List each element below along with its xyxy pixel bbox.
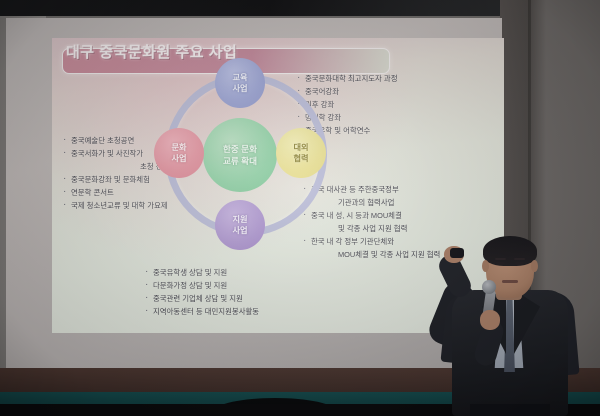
- diagram-node-education: 교육 사업: [215, 58, 265, 108]
- presenter-ear-left: [482, 260, 489, 272]
- presenter-lower-shadow: [470, 404, 550, 416]
- list-cooperation: 중국 대사관 등 주한중국정부 기관과의 협력사업 중국 내 성, 시 등과 M…: [302, 183, 440, 261]
- diagram-node-support: 지원 사업: [215, 200, 265, 250]
- list-item-cont: 및 각종 사업 지원 협력: [302, 222, 440, 235]
- presenter-hair: [483, 236, 537, 266]
- list-item: 중국관련 기업체 상담 및 지원: [144, 292, 259, 305]
- list-item: 중국문화대학 최고지도자 과정: [296, 72, 398, 85]
- presenter-eyebrow-left: [495, 258, 506, 260]
- presenter-eyebrow-right: [514, 258, 525, 260]
- presenter-eye-right: [515, 262, 524, 265]
- list-item-cont: 기관과의 협력사업: [302, 196, 440, 209]
- presentation-photo: 대구 중국문화원 주요 사업 중국문화대학 최고지도자 과정 중국어강좌 원후 …: [0, 0, 600, 416]
- presenter-hand-holding-mic: [480, 310, 500, 330]
- node-label-line1: 문화: [171, 142, 186, 153]
- list-item: 중국 대사관 등 주한중국정부: [302, 183, 440, 196]
- presenter-mouth: [502, 280, 518, 283]
- node-label-line1: 교육: [232, 72, 247, 83]
- presenter: [430, 232, 590, 416]
- node-label-line2: 사업: [232, 225, 247, 236]
- presentation-clicker: [450, 248, 464, 258]
- list-item: 중국 내 성, 시 등과 MOU체결: [302, 209, 440, 222]
- diagram-node-center: 한중 문화 교류 확대: [203, 118, 277, 192]
- list-item: 중국어강좌: [296, 85, 398, 98]
- diagram-node-cooperation: 대외 협력: [276, 128, 326, 178]
- node-label-line2: 사업: [171, 153, 186, 164]
- list-item: 중국문화강좌 및 문화체험: [62, 173, 176, 186]
- node-label-line2: 사업: [232, 83, 247, 94]
- list-item: 연문학 콘서트: [62, 186, 176, 199]
- diagram-node-culture: 문화 사업: [154, 128, 204, 178]
- list-item: 국제 청소년교류 및 대학 가요제: [62, 199, 176, 212]
- list-item: 중국유학생 상담 및 지원: [144, 266, 259, 279]
- node-label-line2: 교류 확대: [223, 155, 257, 167]
- list-item: 한국 내 각 정부 기관단체와: [302, 235, 440, 248]
- list-item: 지역아동센터 등 대민지원봉사활동: [144, 305, 259, 318]
- list-item-cont: MOU체결 및 각종 사업 지원 협력: [302, 248, 440, 261]
- node-label-line2: 협력: [293, 153, 308, 164]
- node-label-line1: 한중 문화: [223, 143, 257, 155]
- projection-screen: 대구 중국문화원 주요 사업 중국문화대학 최고지도자 과정 중국어강좌 원후 …: [6, 18, 502, 368]
- microphone-head-icon: [482, 280, 496, 294]
- presenter-ear-right: [531, 260, 538, 272]
- list-item: 다문화가정 상담 및 지원: [144, 279, 259, 292]
- list-support: 중국유학생 상담 및 지원 다문화가정 상담 및 지원 중국관련 기업체 상담 …: [144, 266, 259, 318]
- node-label-line1: 대외: [293, 142, 308, 153]
- slide-title: 대구 중국문화원 주요 사업: [66, 41, 237, 62]
- presenter-eye-left: [496, 262, 505, 265]
- node-label-line1: 지원: [232, 214, 247, 225]
